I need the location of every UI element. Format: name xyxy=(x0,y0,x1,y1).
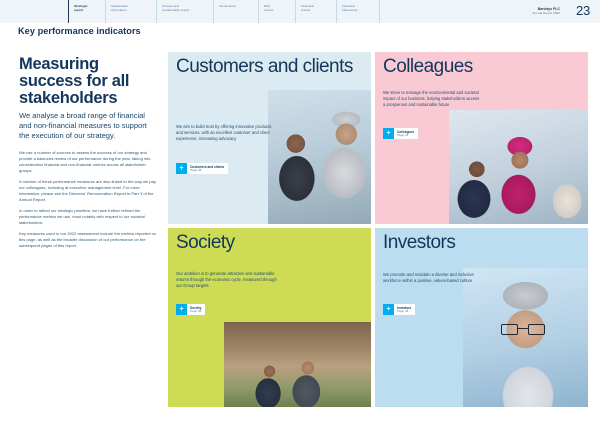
plus-icon: + xyxy=(383,128,394,139)
card-society[interactable]: Society Our ambition is to generate attr… xyxy=(168,228,371,407)
left-column: Measuring success for all stakeholders W… xyxy=(19,56,157,254)
nav-item-label: Shareholder information xyxy=(111,4,128,12)
cta-society[interactable]: + Society Page 39 xyxy=(176,304,205,315)
body-paragraph: We use a number of sources to assess the… xyxy=(19,150,157,174)
brand-subtitle: Annual Report 2022 xyxy=(532,11,560,15)
glasses-left-lens xyxy=(501,324,518,335)
cta-colleagues[interactable]: + Colleagues Page 31 xyxy=(383,128,418,139)
nav-item-climate-and-sustainability-report[interactable]: Climate and sustainability report xyxy=(156,0,213,23)
nav-item-risk-review[interactable]: Risk review xyxy=(258,0,295,23)
stakeholder-card-grid: Customers and clients We aim to build tr… xyxy=(168,52,588,407)
cta-customers-and-clients[interactable]: + Customers and clients Page 28 xyxy=(176,163,228,174)
card-description: We strive to manage the environmental an… xyxy=(383,90,481,108)
cta-page-reference: Page 28 xyxy=(190,169,224,173)
nav-item-label: Strategic report xyxy=(74,4,88,12)
card-title: Society xyxy=(176,234,235,253)
card-photo-investors xyxy=(463,268,588,407)
card-colleagues[interactable]: Colleagues We strive to manage the envir… xyxy=(375,52,588,224)
card-photo-customers xyxy=(268,90,371,224)
card-description: We promote and maintain a diverse and in… xyxy=(383,272,479,284)
cta-investors[interactable]: + Investors Page 45 xyxy=(383,304,415,315)
nav-item-label: Climate and sustainability report xyxy=(162,4,189,12)
cta-page-reference: Page 31 xyxy=(397,134,414,138)
nav-item-label: Governance xyxy=(219,4,236,8)
card-photo-society xyxy=(224,322,371,407)
card-customers-and-clients[interactable]: Customers and clients We aim to build tr… xyxy=(168,52,371,224)
nav-item-financial-review[interactable]: Financial review xyxy=(295,0,336,23)
nav-item-shareholder-information[interactable]: Shareholder information xyxy=(105,0,156,23)
nav-item-label: Financial review xyxy=(301,4,314,12)
nav-trailing-divider xyxy=(379,0,600,23)
nav-item-label: Financial statements xyxy=(342,4,357,12)
page-number: 23 xyxy=(576,3,590,18)
card-title: Investors xyxy=(383,234,455,253)
nav-item-financial-statements[interactable]: Financial statements xyxy=(336,0,379,23)
plus-icon: + xyxy=(383,304,394,315)
cta-page-reference: Page 45 xyxy=(397,310,411,314)
card-description: We aim to build trust by offering innova… xyxy=(176,124,272,142)
standfirst: We analyse a broad range of financial an… xyxy=(19,111,157,141)
glasses-icon xyxy=(501,324,545,335)
glasses-bridge xyxy=(518,328,528,329)
cta-page-reference: Page 39 xyxy=(190,310,201,314)
card-title: Colleagues xyxy=(383,58,473,77)
page-title: Key performance indicators xyxy=(18,26,141,36)
glasses-right-lens xyxy=(528,324,545,335)
brand-block: Barclays PLC Annual Report 2022 xyxy=(532,7,560,15)
card-investors[interactable]: Investors We promote and maintain a dive… xyxy=(375,228,588,407)
top-navigation-bar: Strategic report Shareholder information… xyxy=(0,0,600,24)
card-photo-colleagues xyxy=(449,110,588,224)
body-paragraph: Key measures used in our 2022 assessment… xyxy=(19,231,157,249)
card-description: Our ambition is to generate attractive a… xyxy=(176,271,280,289)
nav-item-label: Risk review xyxy=(264,4,273,12)
body-paragraph: In order to reflect our strategic priori… xyxy=(19,208,157,226)
nav-item-strategic-report[interactable]: Strategic report xyxy=(68,0,105,23)
cta-text-group: Colleagues Page 31 xyxy=(394,128,418,139)
plus-icon: + xyxy=(176,304,187,315)
cta-text-group: Society Page 39 xyxy=(187,304,205,315)
body-paragraph: A number of these performance measures a… xyxy=(19,179,157,203)
cta-text-group: Investors Page 45 xyxy=(394,304,415,315)
plus-icon: + xyxy=(176,163,187,174)
cta-text-group: Customers and clients Page 28 xyxy=(187,163,228,174)
nav-item-governance[interactable]: Governance xyxy=(213,0,258,23)
nav-left-spacer xyxy=(0,0,68,23)
headline: Measuring success for all stakeholders xyxy=(19,56,157,107)
card-title: Customers and clients xyxy=(176,58,353,77)
